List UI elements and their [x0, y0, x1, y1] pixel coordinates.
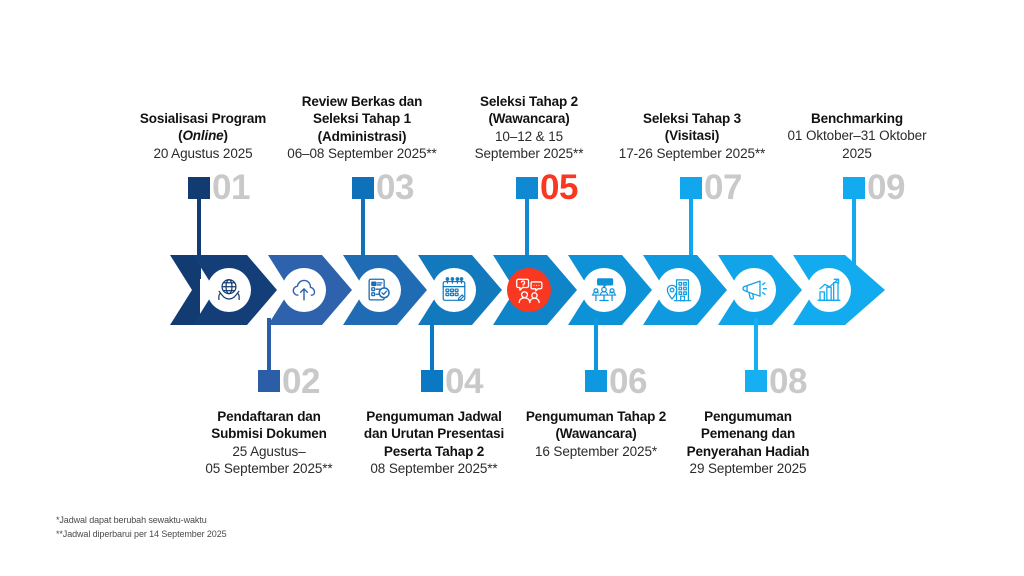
- step-label-07: Seleksi Tahap 3 (Visitasi) 17-26 Septemb…: [602, 110, 782, 162]
- icon-circle-01[interactable]: [207, 268, 251, 312]
- step-label-06: Pengumuman Tahap 2 (Wawancara) 16 Septem…: [505, 408, 687, 460]
- marker-number-08: 08: [769, 364, 807, 399]
- step-date-03: 06–08 September 2025**: [271, 145, 453, 162]
- step-title-08: Pengumuman Pemenang dan Penyerahan Hadia…: [668, 408, 828, 460]
- marker-number-04: 04: [445, 364, 483, 399]
- step-title-09: Benchmarking: [770, 110, 944, 127]
- step-date-04: 08 September 2025**: [338, 460, 530, 477]
- marker-square-01: [188, 177, 210, 199]
- marker-number-06: 06: [609, 364, 647, 399]
- icon-circle-08[interactable]: [732, 268, 776, 312]
- icon-circle-03[interactable]: [357, 268, 401, 312]
- marker-number-09: 09: [867, 170, 905, 205]
- marker-number-03: 03: [376, 170, 414, 205]
- step-date-05: 10–12 & 15 September 2025**: [456, 128, 602, 163]
- step-label-09: Benchmarking 01 Oktober–31 Oktober 2025: [770, 110, 944, 162]
- marker-square-02: [258, 370, 280, 392]
- document-checklist-icon: [364, 275, 394, 305]
- icon-circle-02[interactable]: [282, 268, 326, 312]
- step-title-06: Pengumuman Tahap 2 (Wawancara): [505, 408, 687, 443]
- icon-circle-06[interactable]: [582, 268, 626, 312]
- step-date-07: 17-26 September 2025**: [602, 145, 782, 162]
- icon-circle-09[interactable]: [807, 268, 851, 312]
- step-title-03: Review Berkas dan Seleksi Tahap 1 (Admin…: [271, 93, 453, 145]
- building-location-icon: [664, 275, 694, 305]
- marker-square-07: [680, 177, 702, 199]
- icon-circle-05[interactable]: [507, 268, 551, 312]
- step-date-06: 16 September 2025*: [505, 443, 687, 460]
- megaphone-icon: [739, 275, 769, 305]
- cloud-upload-icon: [289, 275, 319, 305]
- icon-circle-07[interactable]: [657, 268, 701, 312]
- step-label-01: Sosialisasi Program (Online) 20 Agustus …: [128, 110, 278, 162]
- marker-square-05: [516, 177, 538, 199]
- step-title-04: Pengumuman Jadwal dan Urutan Presentasi …: [338, 408, 530, 460]
- marker-stem-02: [267, 318, 271, 370]
- timeline-infographic: Sosialisasi Program (Online) 20 Agustus …: [0, 0, 1024, 576]
- marker-stem-04: [430, 318, 434, 370]
- step-title-05: Seleksi Tahap 2 (Wawancara): [456, 93, 602, 128]
- step-label-02: Pendaftaran dan Submisi Dokumen 25 Agust…: [178, 408, 360, 477]
- marker-square-08: [745, 370, 767, 392]
- marker-stem-06: [594, 318, 598, 370]
- marker-square-04: [421, 370, 443, 392]
- step-date-02: 25 Agustus– 05 September 2025**: [178, 443, 360, 478]
- interview-chat-icon: [514, 275, 544, 305]
- growth-chart-icon: [814, 275, 844, 305]
- marker-number-02: 02: [282, 364, 320, 399]
- step-label-05: Seleksi Tahap 2 (Wawancara) 10–12 & 15 S…: [456, 93, 602, 162]
- marker-number-07: 07: [704, 170, 742, 205]
- marker-number-05: 05: [540, 170, 578, 205]
- marker-square-03: [352, 177, 374, 199]
- icon-circle-04[interactable]: [432, 268, 476, 312]
- footnote-single-asterisk: *Jadwal dapat berubah sewaktu-waktu: [56, 514, 227, 528]
- marker-number-01: 01: [212, 170, 250, 205]
- calendar-icon: [439, 275, 469, 305]
- globe-in-hands-icon: [214, 275, 244, 305]
- step-label-04: Pengumuman Jadwal dan Urutan Presentasi …: [338, 408, 530, 477]
- step-date-09: 01 Oktober–31 Oktober 2025: [770, 127, 944, 162]
- marker-stem-08: [754, 318, 758, 370]
- step-date-01: 20 Agustus 2025: [128, 145, 278, 162]
- step-date-08: 29 September 2025: [668, 460, 828, 477]
- step-title-07: Seleksi Tahap 3 (Visitasi): [602, 110, 782, 145]
- marker-square-06: [585, 370, 607, 392]
- footnotes: *Jadwal dapat berubah sewaktu-waktu **Ja…: [56, 514, 227, 542]
- step-title-01: Sosialisasi Program (Online): [128, 110, 278, 145]
- footnote-double-asterisk: **Jadwal diperbarui per 14 September 202…: [56, 528, 227, 542]
- meeting-table-icon: [589, 275, 619, 305]
- step-label-08: Pengumuman Pemenang dan Penyerahan Hadia…: [668, 408, 828, 477]
- step-label-03: Review Berkas dan Seleksi Tahap 1 (Admin…: [271, 93, 453, 162]
- marker-square-09: [843, 177, 865, 199]
- step-title-02: Pendaftaran dan Submisi Dokumen: [178, 408, 360, 443]
- arrow-tail: [170, 255, 200, 325]
- timeline-arrow-band: [0, 245, 1024, 335]
